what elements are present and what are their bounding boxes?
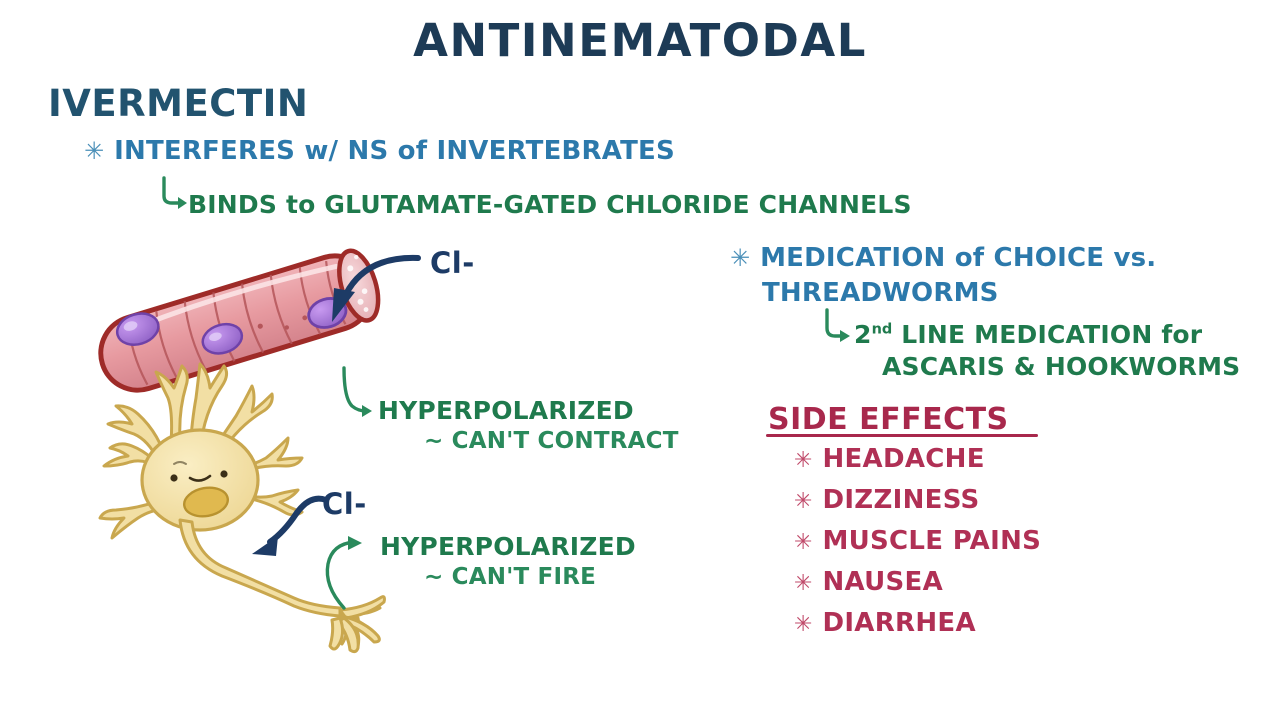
asterisk-bullet-icon: ✳ xyxy=(794,530,812,555)
chloride-label-muscle: Cl- xyxy=(430,246,475,280)
neuron-effect-line2: ~ CAN'T FIRE xyxy=(424,564,596,590)
side-effects-heading: SIDE EFFECTS xyxy=(768,402,1009,437)
bullet-interferes: ✳ INTERFERES w/ NS of INVERTEBRATES xyxy=(84,136,675,166)
list-item: ✳ MUSCLE PAINS xyxy=(794,526,1041,556)
side-effects-list: ✳ HEADACHE ✳ DIZZINESS ✳ MUSCLE PAINS ✳ … xyxy=(794,444,1041,638)
asterisk-bullet-icon: ✳ xyxy=(794,571,812,596)
asterisk-bullet-icon: ✳ xyxy=(794,489,812,514)
asterisk-bullet-icon: ✳ xyxy=(84,137,104,165)
asterisk-bullet-icon: ✳ xyxy=(794,448,812,473)
side-effect-label: NAUSEA xyxy=(822,567,943,597)
list-item: ✳ HEADACHE xyxy=(794,444,1041,474)
medication-of-choice-line1: MEDICATION of CHOICE vs. xyxy=(760,243,1156,273)
muscle-effect-line2: ~ CAN'T CONTRACT xyxy=(424,428,679,454)
second-line-rest: LINE MEDICATION for xyxy=(892,320,1202,349)
list-item: ✳ DIARRHEA xyxy=(794,608,1041,638)
hook-arrow-second-line-icon xyxy=(822,308,854,344)
side-effect-label: DIZZINESS xyxy=(822,485,979,515)
side-effect-label: DIARRHEA xyxy=(822,608,975,638)
drug-name-heading: IVERMECTIN xyxy=(48,82,308,125)
asterisk-bullet-icon: ✳ xyxy=(730,244,750,272)
ascaris-hookworms-label: ASCARIS & HOOKWORMS xyxy=(882,352,1240,381)
medication-of-choice-line2: THREADWORMS xyxy=(762,278,999,308)
side-effect-label: MUSCLE PAINS xyxy=(822,526,1041,556)
muscle-effect-line1: HYPERPOLARIZED xyxy=(378,396,634,425)
hook-arrow-binds-icon xyxy=(160,176,190,210)
side-effects-underline xyxy=(766,434,1038,437)
neuron-effect-line1: HYPERPOLARIZED xyxy=(380,532,636,561)
second-line-ordinal: nd xyxy=(872,322,893,338)
second-line-number: 2 xyxy=(854,320,872,349)
second-line-medication-label: 2nd LINE MEDICATION for xyxy=(854,320,1202,349)
bullet-medication-of-choice: ✳ MEDICATION of CHOICE vs. xyxy=(730,243,1156,273)
slide-canvas: ANTINEMATODAL IVERMECTIN ✳ INTERFERES w/… xyxy=(0,0,1280,720)
asterisk-bullet-icon: ✳ xyxy=(794,612,812,637)
list-item: ✳ DIZZINESS xyxy=(794,485,1041,515)
chloride-arrow-muscle-icon xyxy=(314,248,424,338)
page-title: ANTINEMATODAL xyxy=(0,14,1280,67)
side-effect-label: HEADACHE xyxy=(822,444,984,474)
list-item: ✳ NAUSEA xyxy=(794,567,1041,597)
chloride-label-neuron: Cl- xyxy=(322,487,367,521)
chloride-arrow-neuron-icon xyxy=(236,492,332,574)
binds-glutamate-label: BINDS to GLUTAMATE-GATED CHLORIDE CHANNE… xyxy=(188,190,912,219)
curved-arrow-neuron-effect-icon xyxy=(320,534,386,610)
bullet-interferes-label: INTERFERES w/ NS of INVERTEBRATES xyxy=(114,136,675,166)
